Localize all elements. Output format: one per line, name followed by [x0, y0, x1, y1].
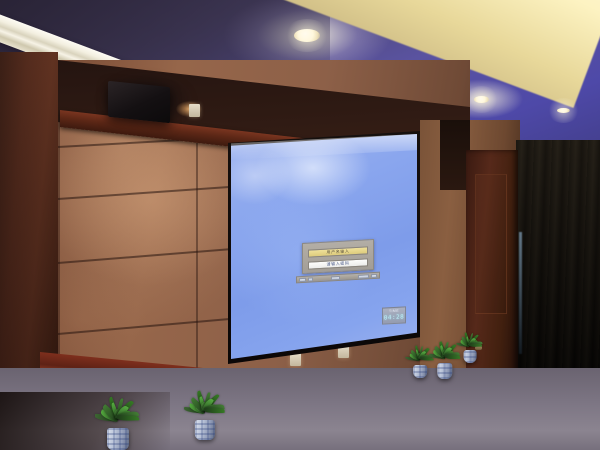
osd-clock-time: 04:28 — [384, 314, 405, 321]
plant-left-2 — [176, 368, 233, 440]
plant-pot — [195, 420, 215, 440]
taskbar-button-app1[interactable] — [308, 277, 313, 281]
projected-osd-clock: TIME 04:28 — [382, 306, 406, 324]
taskbar-button-app2[interactable] — [331, 275, 340, 280]
projected-dialog-window[interactable]: 用户名输入 请输入密码 — [302, 239, 374, 274]
dialog-password-field[interactable]: 请输入密码 — [308, 258, 368, 269]
plant-pot — [107, 428, 129, 450]
dialog-password-text: 请输入密码 — [327, 261, 350, 266]
downlight-4-icon — [474, 96, 489, 103]
door-panel — [475, 174, 507, 314]
plant-pot — [464, 350, 477, 363]
plant-foliage — [176, 367, 233, 411]
plant-leaf — [470, 343, 483, 346]
plant-pot — [437, 363, 452, 378]
window-curtain — [516, 140, 600, 375]
taskbar-spacer — [315, 278, 329, 279]
room-scene: 用户名输入 请输入密码 TIME 04:28 — [0, 0, 600, 450]
downlight-1-icon — [294, 29, 320, 42]
downlight-6-icon — [557, 108, 570, 113]
plant-leaf — [205, 408, 225, 413]
taskbar-spacer-2 — [342, 276, 356, 277]
plant-left-1 — [87, 372, 149, 450]
plant-leaf — [118, 416, 140, 422]
taskbar-button-start[interactable] — [299, 277, 306, 281]
dialog-username-text: 用户名输入 — [327, 249, 350, 254]
projector — [108, 81, 170, 124]
dialog-username-field[interactable]: 用户名输入 — [308, 246, 368, 257]
plant-right-3 — [452, 318, 488, 363]
plant-foliage — [452, 317, 488, 345]
wall-seam-vertical-1 — [58, 90, 60, 390]
door-light-gap — [519, 232, 522, 354]
taskbar-tray[interactable] — [371, 273, 377, 277]
outlet-plate-upper[interactable] — [189, 104, 200, 117]
plant-foliage — [87, 370, 149, 418]
wall-seam-vertical-0 — [196, 120, 198, 370]
taskbar-button-app3[interactable] — [358, 274, 369, 279]
